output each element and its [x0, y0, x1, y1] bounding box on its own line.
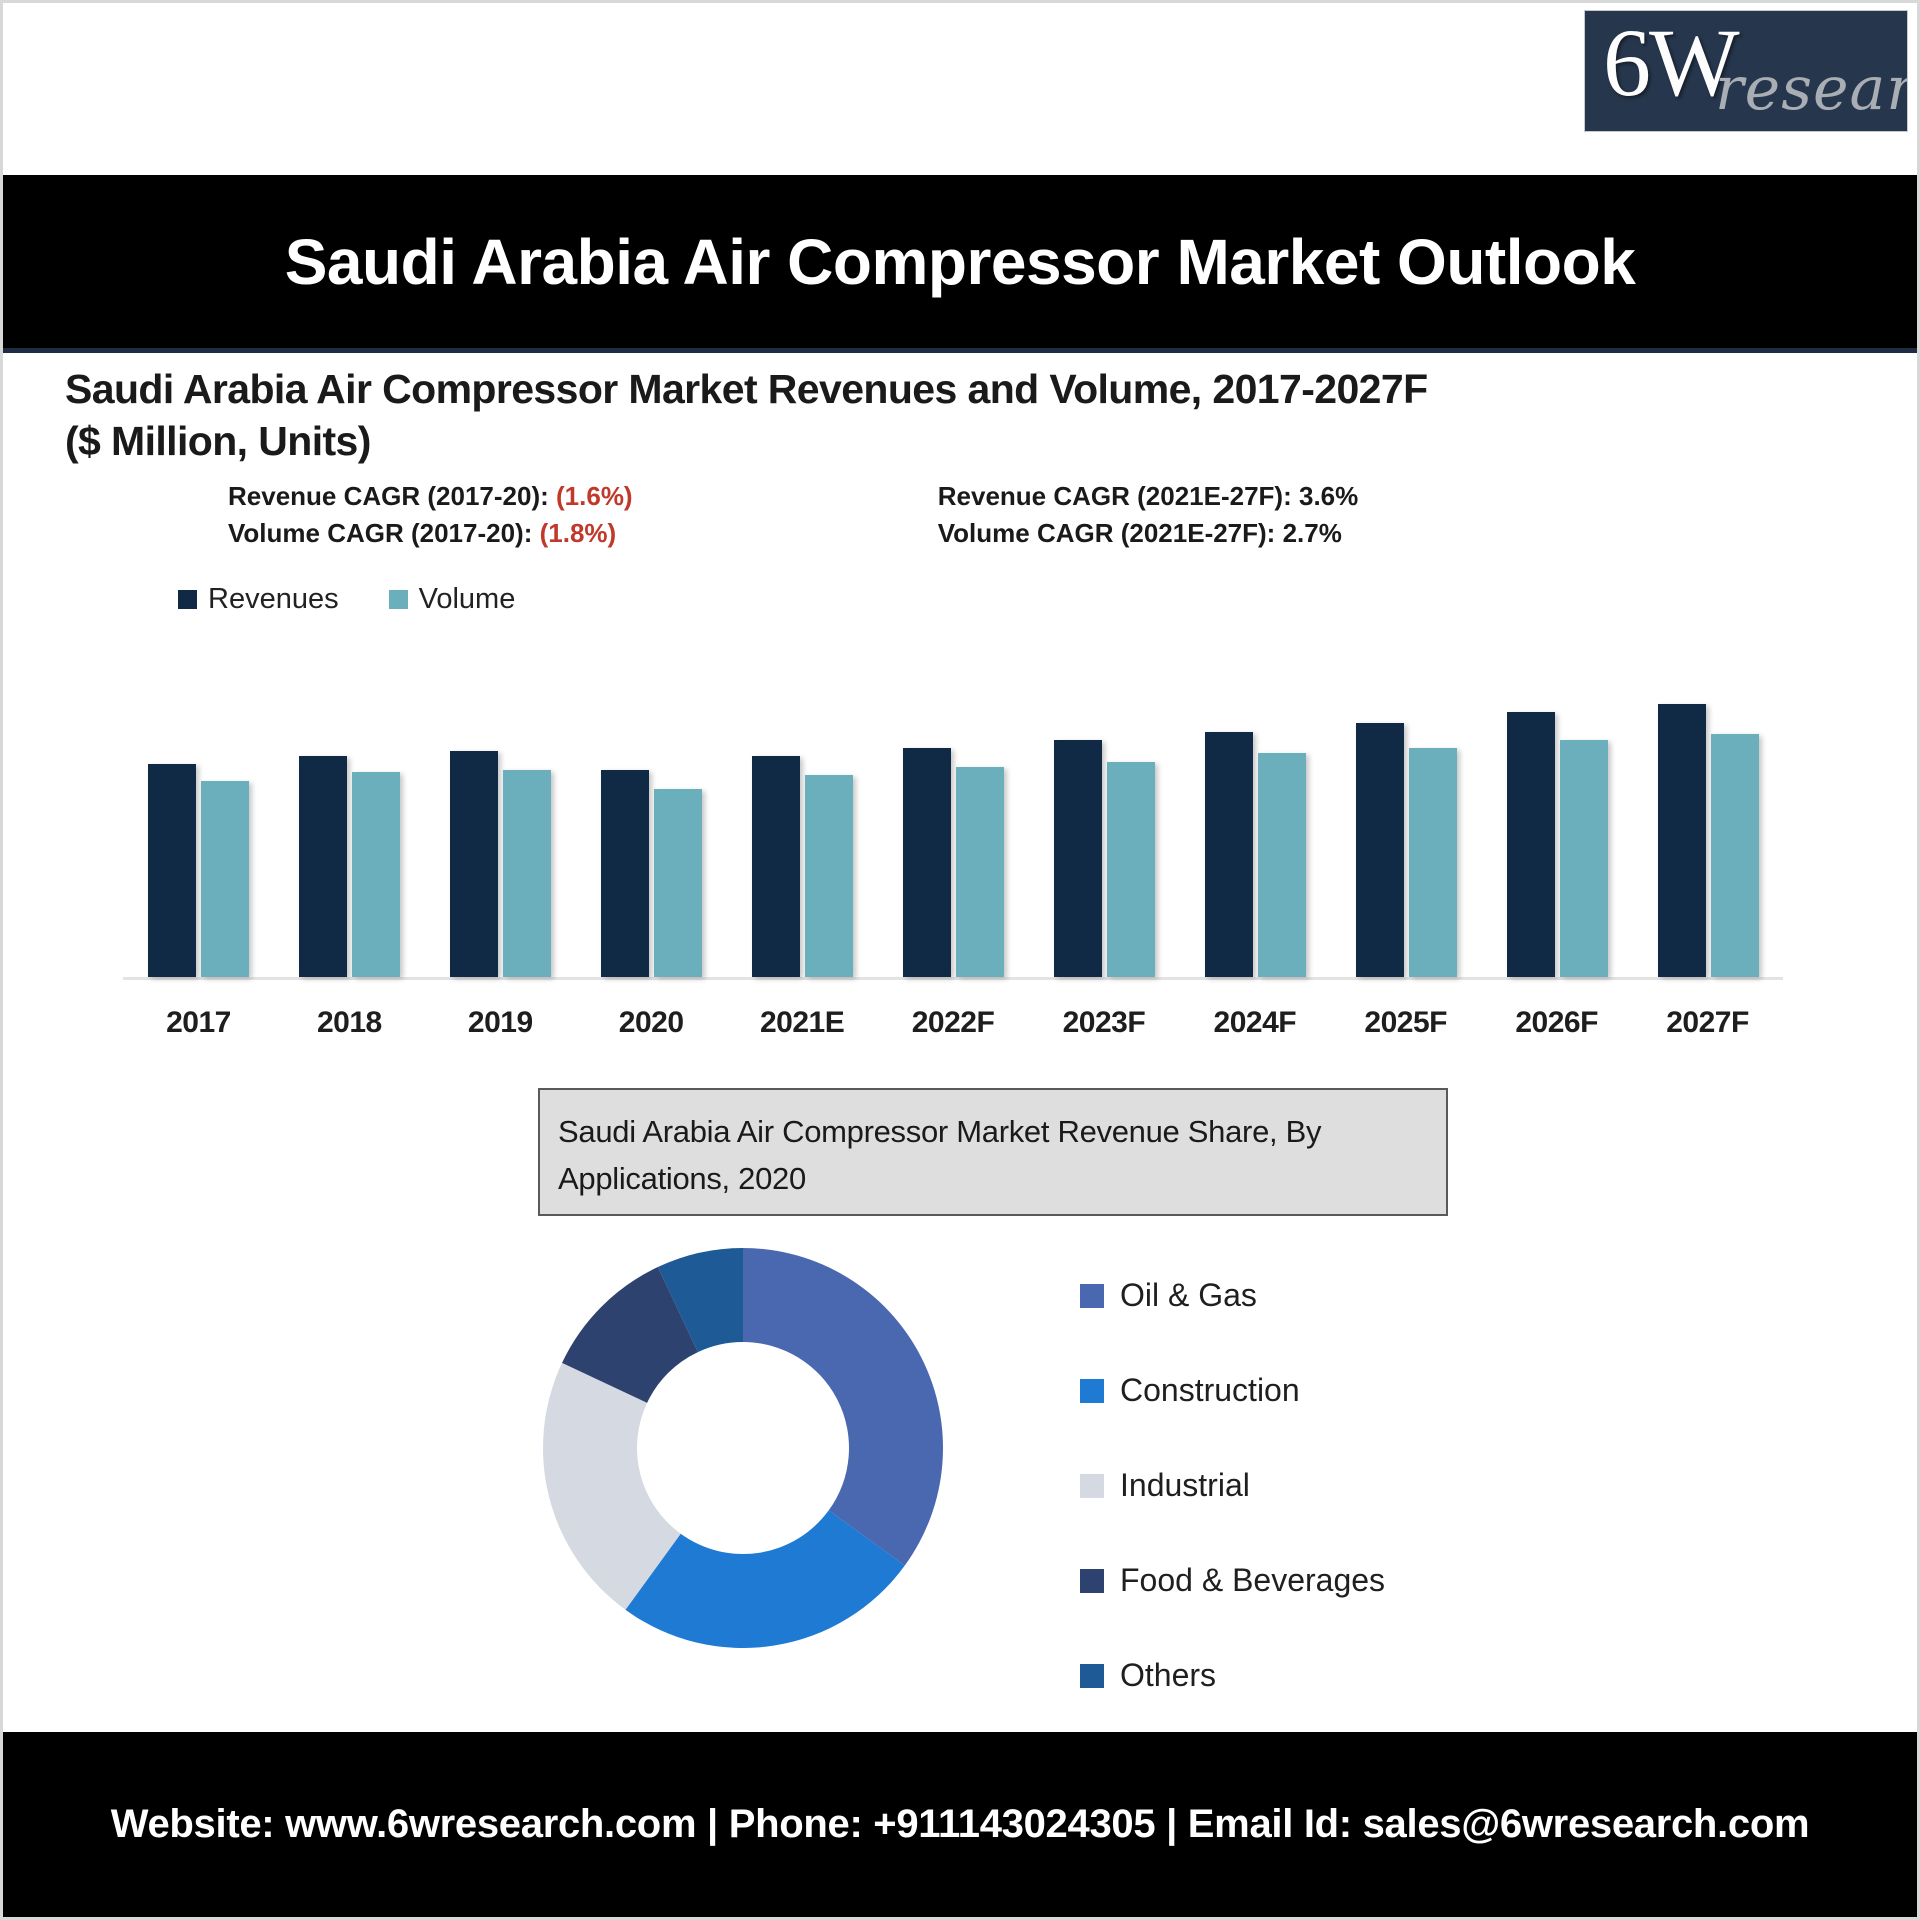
- title-banner: Saudi Arabia Air Compressor Market Outlo…: [3, 175, 1917, 353]
- page-title: Saudi Arabia Air Compressor Market Outlo…: [285, 225, 1636, 299]
- x-axis-label: 2025F: [1364, 1006, 1447, 1040]
- x-axis-label: 2026F: [1515, 1006, 1598, 1040]
- bar-revenues: [1507, 712, 1555, 977]
- donut-chart: [533, 1238, 953, 1658]
- donut-legend-label: Oil & Gas: [1120, 1277, 1257, 1314]
- top-bar: 6W research: [3, 3, 1917, 175]
- bar-revenues: [1658, 704, 1706, 977]
- cagr-historic-block: Revenue CAGR (2017-20): (1.6%) Volume CA…: [228, 478, 633, 552]
- cagr-volume-historic-label: Volume CAGR (2017-20):: [228, 518, 532, 548]
- bar-volume: [352, 772, 400, 977]
- infographic-page: 6W research Saudi Arabia Air Compressor …: [0, 0, 1920, 1920]
- donut-legend-item: Oil & Gas: [1080, 1248, 1385, 1343]
- bar-volume: [1107, 762, 1155, 977]
- donut-chart-area: Oil & GasConstructionIndustrialFood & Be…: [3, 1238, 1917, 1708]
- x-axis-label: 2023F: [1063, 1006, 1146, 1040]
- bar-chart-title-line1: Saudi Arabia Air Compressor Market Reven…: [65, 363, 1625, 415]
- donut-legend-item: Construction: [1080, 1343, 1385, 1438]
- bar-revenues: [903, 748, 951, 977]
- bar-volume: [1409, 748, 1457, 977]
- bar-volume: [1711, 734, 1759, 977]
- bar-chart-title-line2: ($ Million, Units): [65, 415, 1625, 467]
- bar-group: [752, 756, 853, 977]
- x-axis-label: 2024F: [1214, 1006, 1297, 1040]
- donut-chart-title: Saudi Arabia Air Compressor Market Reven…: [558, 1108, 1426, 1202]
- bar-group: [148, 764, 249, 977]
- bar-chart-legend: RevenuesVolume: [178, 583, 515, 616]
- logo-research-text: research: [1715, 59, 1907, 119]
- cagr-revenue-forecast-label: Revenue CAGR (2021E-27F):: [938, 481, 1292, 511]
- bar-group: [1356, 723, 1457, 977]
- footer-bar: Website: www.6wresearch.com | Phone: +91…: [3, 1732, 1917, 1917]
- bar-group: [1507, 712, 1608, 977]
- bar-group: [1054, 740, 1155, 977]
- donut-legend-item: Food & Beverages: [1080, 1533, 1385, 1628]
- bar-volume: [956, 767, 1004, 977]
- bar-legend-swatch-icon: [389, 590, 408, 609]
- cagr-revenue-forecast: Revenue CAGR (2021E-27F): 3.6%: [938, 478, 1359, 515]
- x-axis-label: 2027F: [1666, 1006, 1749, 1040]
- company-logo: 6W research: [1585, 11, 1907, 131]
- bar-volume: [503, 770, 551, 977]
- bar-chart-title: Saudi Arabia Air Compressor Market Reven…: [65, 363, 1625, 468]
- bar-chart-baseline: [123, 977, 1783, 980]
- bar-legend-label: Revenues: [208, 583, 339, 616]
- content-area: Saudi Arabia Air Compressor Market Reven…: [3, 358, 1917, 1738]
- bar-group: [450, 751, 551, 977]
- x-axis-label: 2022F: [912, 1006, 995, 1040]
- bar-group: [601, 770, 702, 977]
- x-axis-label: 2019: [468, 1006, 533, 1040]
- donut-legend-swatch-icon: [1080, 1284, 1104, 1308]
- donut-legend-label: Construction: [1120, 1372, 1300, 1409]
- bar-revenues: [299, 756, 347, 977]
- bar-volume: [805, 775, 853, 977]
- donut-legend-swatch-icon: [1080, 1474, 1104, 1498]
- cagr-volume-historic: Volume CAGR (2017-20): (1.8%): [228, 515, 633, 552]
- cagr-volume-forecast: Volume CAGR (2021E-27F): 2.7%: [938, 515, 1359, 552]
- x-axis-label: 2020: [619, 1006, 684, 1040]
- cagr-volume-forecast-value: 2.7%: [1283, 518, 1342, 548]
- bar-legend-item-revenues: Revenues: [178, 583, 339, 616]
- bar-legend-label: Volume: [419, 583, 516, 616]
- bar-legend-swatch-icon: [178, 590, 197, 609]
- cagr-revenue-historic-value: (1.6%): [556, 481, 633, 511]
- cagr-revenue-forecast-value: 3.6%: [1299, 481, 1358, 511]
- bar-revenues: [752, 756, 800, 977]
- donut-chart-title-box: Saudi Arabia Air Compressor Market Reven…: [538, 1088, 1448, 1216]
- donut-legend-label: Industrial: [1120, 1467, 1250, 1504]
- donut-legend-item: Industrial: [1080, 1438, 1385, 1533]
- donut-legend-swatch-icon: [1080, 1664, 1104, 1688]
- bar-volume: [201, 781, 249, 977]
- bar-legend-item-volume: Volume: [389, 583, 516, 616]
- cagr-revenue-historic-label: Revenue CAGR (2017-20):: [228, 481, 549, 511]
- bar-revenues: [148, 764, 196, 977]
- donut-slice-oil-gas: [743, 1248, 943, 1566]
- donut-legend-label: Food & Beverages: [1120, 1562, 1385, 1599]
- donut-legend-label: Others: [1120, 1657, 1216, 1694]
- x-axis-label: 2017: [166, 1006, 231, 1040]
- bar-volume: [654, 789, 702, 977]
- donut-legend-swatch-icon: [1080, 1379, 1104, 1403]
- bar-group: [903, 748, 1004, 977]
- bar-revenues: [601, 770, 649, 977]
- donut-legend-swatch-icon: [1080, 1569, 1104, 1593]
- bar-volume: [1560, 740, 1608, 977]
- cagr-forecast-block: Revenue CAGR (2021E-27F): 3.6% Volume CA…: [938, 478, 1359, 552]
- x-axis-label: 2021E: [760, 1006, 844, 1040]
- bar-group: [1205, 732, 1306, 977]
- bar-revenues: [1205, 732, 1253, 977]
- donut-chart-legend: Oil & GasConstructionIndustrialFood & Be…: [1080, 1248, 1385, 1723]
- bar-revenues: [450, 751, 498, 977]
- cagr-volume-forecast-label: Volume CAGR (2021E-27F):: [938, 518, 1276, 548]
- bar-revenues: [1054, 740, 1102, 977]
- cagr-volume-historic-value: (1.8%): [540, 518, 617, 548]
- x-axis-label: 2018: [317, 1006, 382, 1040]
- bar-volume: [1258, 753, 1306, 977]
- footer-contact-text: Website: www.6wresearch.com | Phone: +91…: [111, 1802, 1809, 1847]
- bar-group: [299, 756, 400, 977]
- bar-chart-plot: [123, 638, 1823, 1018]
- bar-group: [1658, 704, 1759, 977]
- bar-revenues: [1356, 723, 1404, 977]
- cagr-revenue-historic: Revenue CAGR (2017-20): (1.6%): [228, 478, 633, 515]
- bar-chart-x-axis: 20172018201920202021E2022F2023F2024F2025…: [123, 1006, 1823, 1066]
- donut-legend-item: Others: [1080, 1628, 1385, 1723]
